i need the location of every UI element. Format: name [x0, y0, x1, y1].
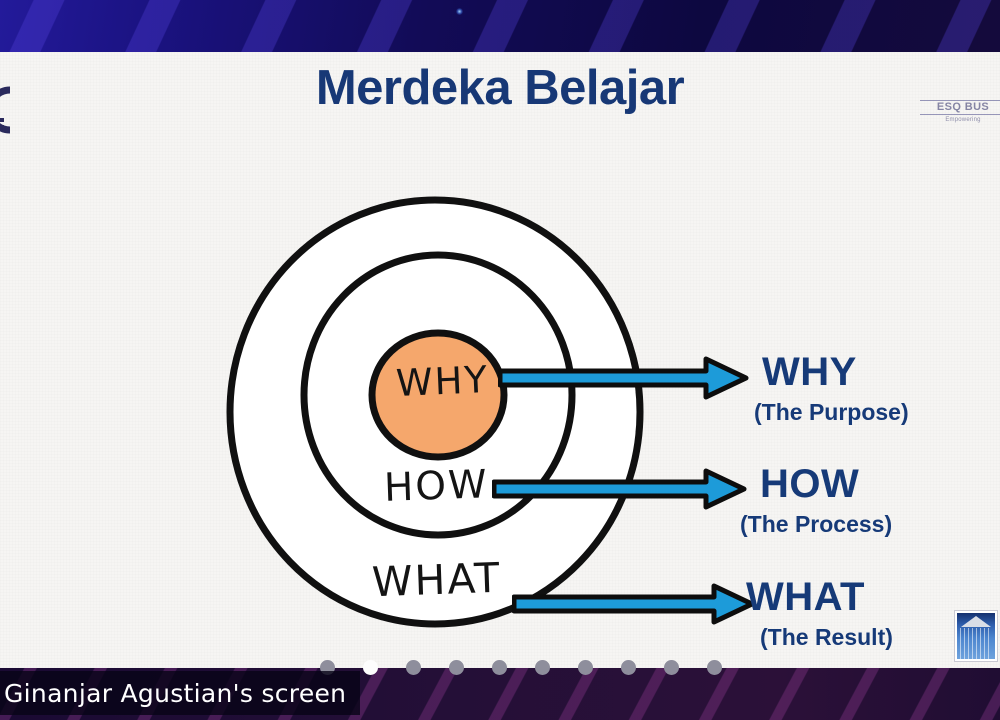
- screen-share-label: Ginanjar Agustian's screen: [0, 671, 360, 715]
- participant-dot[interactable]: [707, 660, 722, 675]
- arrow-how-icon: [492, 467, 750, 511]
- esq-logo-partial-icon: [0, 84, 24, 136]
- ring-label-why: WHY: [395, 358, 490, 405]
- callout-what: WHAT (The Result): [746, 577, 893, 649]
- shared-slide: Merdeka Belajar ESQ BUS Empowering: [0, 52, 1000, 668]
- callout-how-title: HOW: [760, 464, 892, 504]
- ring-label-what: WHAT: [371, 554, 502, 606]
- esq-business-logo: ESQ BUS Empowering: [920, 100, 1000, 136]
- callout-why-subtitle: (The Purpose): [754, 401, 909, 424]
- participant-dot[interactable]: [535, 660, 550, 675]
- participant-dot[interactable]: [492, 660, 507, 675]
- golden-circle-diagram: WHY HOW WHAT: [222, 184, 678, 640]
- esq-logo-sub-text: Empowering: [920, 117, 1000, 123]
- esq-logo-main-text: ESQ BUS: [920, 100, 1000, 115]
- participant-dot[interactable]: [621, 660, 636, 675]
- participant-dot[interactable]: [664, 660, 679, 675]
- callout-how-subtitle: (The Process): [740, 513, 892, 536]
- callout-what-title: WHAT: [746, 577, 893, 617]
- slide-photo-thumbnail: [954, 610, 998, 662]
- video-call-window: Merdeka Belajar ESQ BUS Empowering: [0, 0, 1000, 720]
- backdrop-spark-icon: [456, 8, 463, 15]
- participant-dot[interactable]: [578, 660, 593, 675]
- callout-why-title: WHY: [762, 352, 909, 392]
- call-backdrop-top: [0, 0, 1000, 54]
- participant-dot[interactable]: [449, 660, 464, 675]
- callout-how: HOW (The Process): [760, 464, 892, 536]
- arrow-why-icon: [498, 355, 750, 401]
- ring-label-how: HOW: [383, 462, 489, 511]
- page-title: Merdeka Belajar: [0, 60, 1000, 116]
- callout-what-subtitle: (The Result): [760, 626, 893, 649]
- arrow-what-icon: [512, 582, 758, 626]
- participant-dot[interactable]: [406, 660, 421, 675]
- callout-why: WHY (The Purpose): [762, 352, 909, 424]
- slide-photo-thumbnail-image: [957, 613, 995, 659]
- participant-dot[interactable]: [363, 660, 378, 675]
